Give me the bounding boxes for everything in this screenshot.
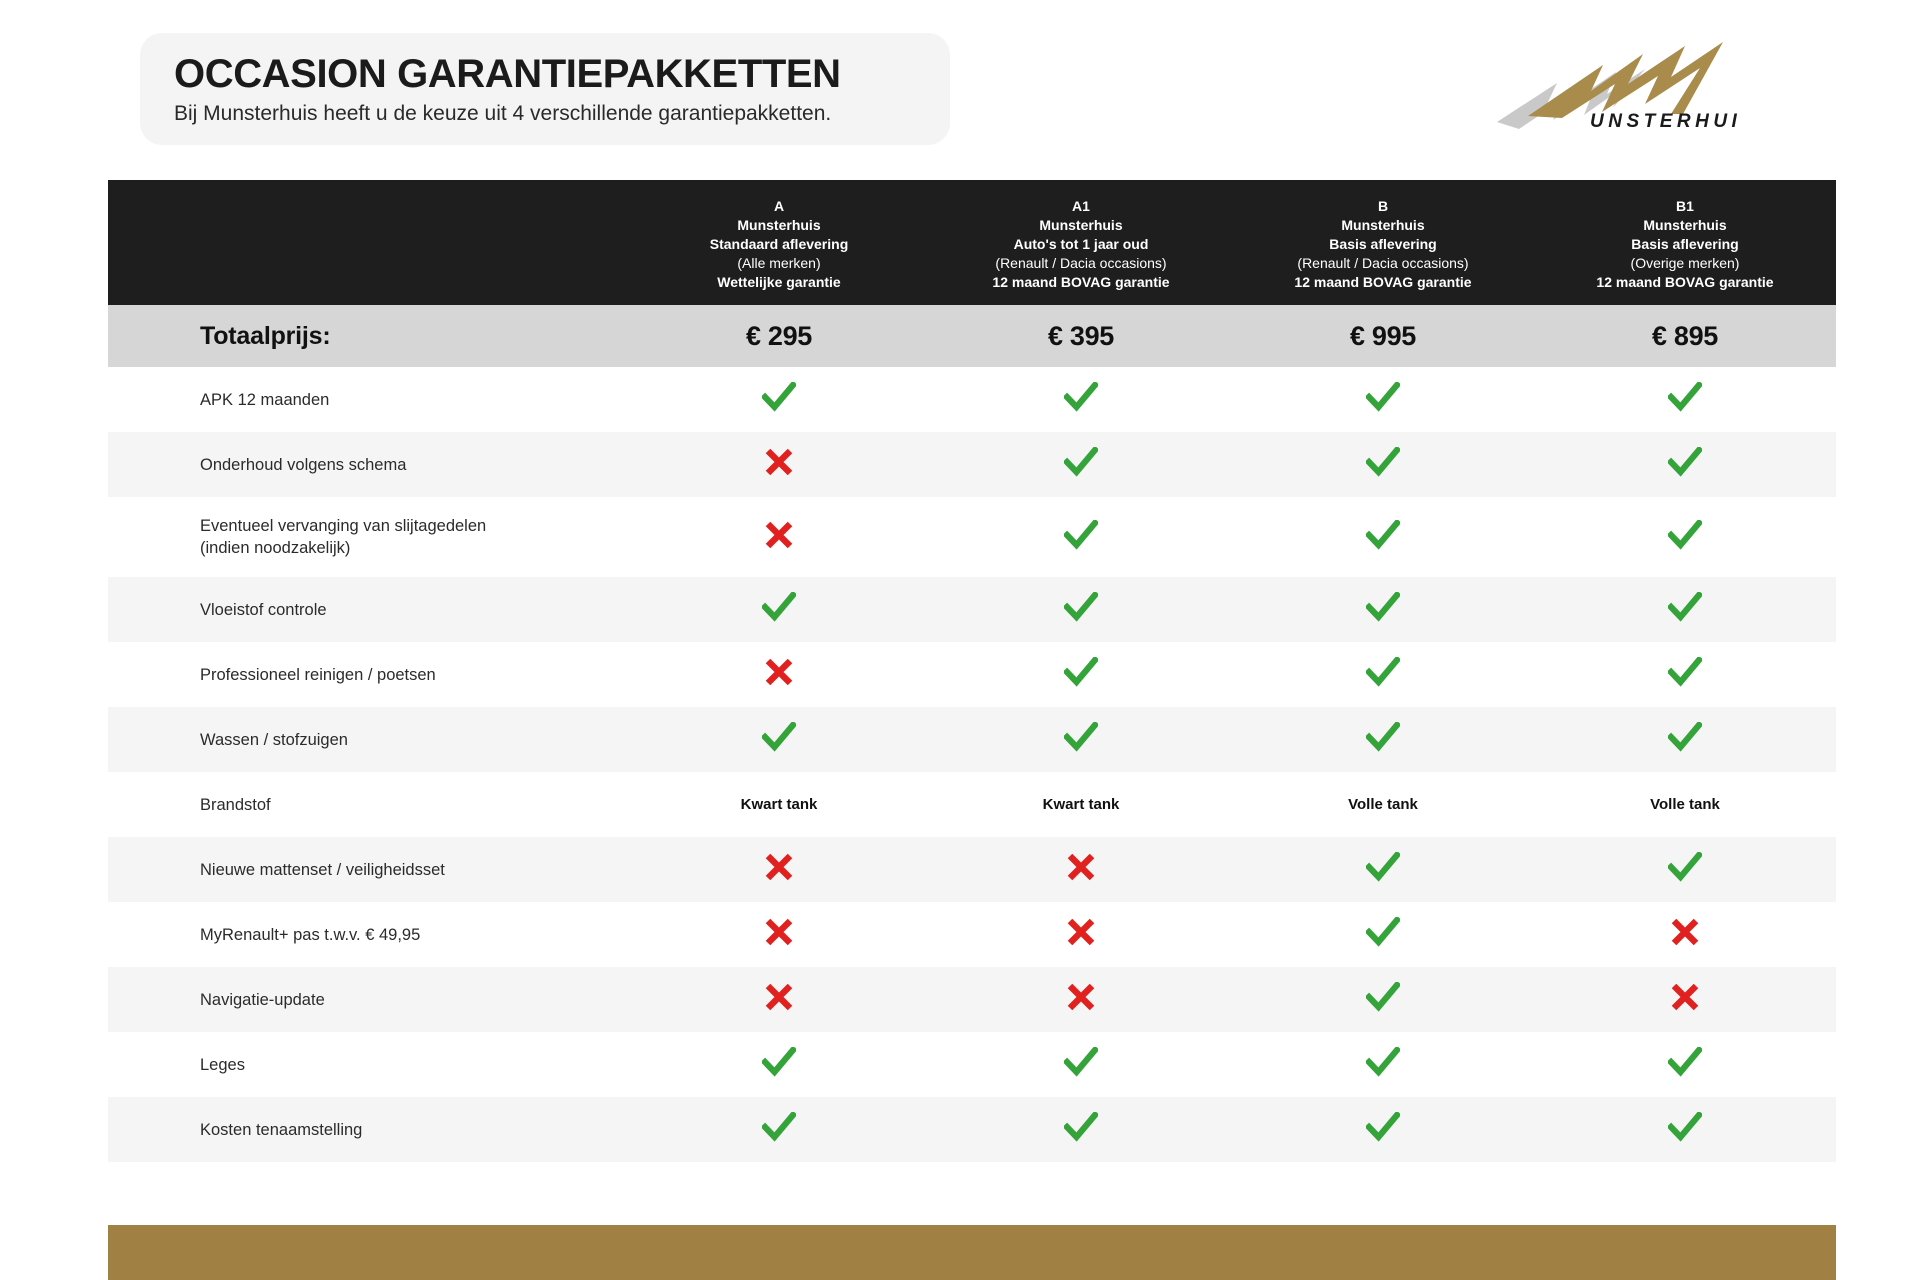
- column-code: B1: [1676, 197, 1694, 216]
- cross-icon: [1534, 967, 1836, 1032]
- check-icon: [930, 432, 1232, 497]
- cross-icon: [930, 837, 1232, 902]
- feature-label: Kosten tenaamstelling: [108, 1097, 628, 1162]
- column-scope: (Renault / Dacia occasions): [995, 254, 1166, 273]
- check-icon: [1232, 967, 1534, 1032]
- column-brand: Munsterhuis: [1643, 216, 1726, 235]
- check-icon: [930, 577, 1232, 642]
- check-icon: [1534, 432, 1836, 497]
- cross-icon: [628, 902, 930, 967]
- logo-mark-icon: UNSTERHUIS: [1495, 34, 1740, 134]
- cross-icon: [1534, 902, 1836, 967]
- check-icon: [628, 577, 930, 642]
- column-scope: (Renault / Dacia occasions): [1297, 254, 1468, 273]
- column-scope: (Overige merken): [1631, 254, 1740, 273]
- feature-text: Volle tank: [1650, 796, 1720, 813]
- feature-rows: APK 12 maandenOnderhoud volgens schemaEv…: [108, 367, 1836, 1162]
- footer-accent-bar: [108, 1225, 1836, 1280]
- feature-label: Nieuwe mattenset / veiligheidsset: [108, 837, 628, 902]
- check-icon: [1232, 367, 1534, 432]
- check-icon: [930, 707, 1232, 772]
- column-header-a: A Munsterhuis Standaard aflevering (Alle…: [628, 180, 930, 305]
- feature-text: Volle tank: [1348, 796, 1418, 813]
- table-row: Nieuwe mattenset / veiligheidsset: [108, 837, 1836, 902]
- feature-label: Leges: [108, 1032, 628, 1097]
- check-icon: [930, 497, 1232, 577]
- table-row: Professioneel reinigen / poetsen: [108, 642, 1836, 707]
- table-row: MyRenault+ pas t.w.v. € 49,95: [108, 902, 1836, 967]
- table-row: Vloeistof controle: [108, 577, 1836, 642]
- check-icon: [1232, 432, 1534, 497]
- check-icon: [1232, 497, 1534, 577]
- cross-icon: [628, 967, 930, 1032]
- check-icon: [1534, 642, 1836, 707]
- check-icon: [628, 367, 930, 432]
- column-scope: (Alle merken): [737, 254, 820, 273]
- logo-wordmark: UNSTERHUIS: [1590, 111, 1740, 132]
- column-variant: Basis aflevering: [1631, 235, 1738, 254]
- feature-text: Kwart tank: [741, 796, 818, 813]
- column-header-b: B Munsterhuis Basis aflevering (Renault …: [1232, 180, 1534, 305]
- column-brand: Munsterhuis: [737, 216, 820, 235]
- feature-label: APK 12 maanden: [108, 367, 628, 432]
- check-icon: [628, 707, 930, 772]
- column-code: A1: [1072, 197, 1090, 216]
- feature-text-value: Kwart tank: [628, 772, 930, 837]
- cross-icon: [628, 837, 930, 902]
- check-icon: [628, 1097, 930, 1162]
- table-row: BrandstofKwart tankKwart tankVolle tankV…: [108, 772, 1836, 837]
- check-icon: [1232, 1097, 1534, 1162]
- check-icon: [1534, 1097, 1836, 1162]
- feature-label: MyRenault+ pas t.w.v. € 49,95: [108, 902, 628, 967]
- column-warranty: Wettelijke garantie: [717, 273, 840, 292]
- title-card: OCCASION GARANTIEPAKKETTEN Bij Munsterhu…: [140, 33, 950, 145]
- column-brand: Munsterhuis: [1039, 216, 1122, 235]
- check-icon: [1534, 707, 1836, 772]
- table-row: Wassen / stofzuigen: [108, 707, 1836, 772]
- comparison-table: A Munsterhuis Standaard aflevering (Alle…: [108, 180, 1836, 1162]
- check-icon: [1534, 367, 1836, 432]
- check-icon: [930, 1097, 1232, 1162]
- cross-icon: [930, 967, 1232, 1032]
- column-header-a1: A1 Munsterhuis Auto's tot 1 jaar oud (Re…: [930, 180, 1232, 305]
- column-warranty: 12 maand BOVAG garantie: [992, 273, 1169, 292]
- munsterhuis-logo: UNSTERHUIS: [1495, 34, 1740, 134]
- check-icon: [1232, 707, 1534, 772]
- check-icon: [628, 1032, 930, 1097]
- table-row: Navigatie-update: [108, 967, 1836, 1032]
- feature-label: Navigatie-update: [108, 967, 628, 1032]
- check-icon: [1534, 497, 1836, 577]
- feature-text-value: Kwart tank: [930, 772, 1232, 837]
- check-icon: [930, 642, 1232, 707]
- check-icon: [930, 1032, 1232, 1097]
- page-subtitle: Bij Munsterhuis heeft u de keuze uit 4 v…: [174, 99, 950, 129]
- price-b1: € 895: [1534, 305, 1836, 367]
- check-icon: [1232, 837, 1534, 902]
- column-brand: Munsterhuis: [1341, 216, 1424, 235]
- feature-label: Professioneel reinigen / poetsen: [108, 642, 628, 707]
- column-code: A: [774, 197, 784, 216]
- feature-text-value: Volle tank: [1232, 772, 1534, 837]
- column-variant: Auto's tot 1 jaar oud: [1014, 235, 1149, 254]
- header-label-cell: [108, 180, 628, 305]
- check-icon: [930, 367, 1232, 432]
- check-icon: [1232, 1032, 1534, 1097]
- check-icon: [1232, 577, 1534, 642]
- price-a1: € 395: [930, 305, 1232, 367]
- feature-label: Onderhoud volgens schema: [108, 432, 628, 497]
- column-code: B: [1378, 197, 1388, 216]
- table-row: Leges: [108, 1032, 1836, 1097]
- column-header-b1: B1 Munsterhuis Basis aflevering (Overige…: [1534, 180, 1836, 305]
- page-header: OCCASION GARANTIEPAKKETTEN Bij Munsterhu…: [0, 0, 1920, 168]
- cross-icon: [628, 432, 930, 497]
- check-icon: [1232, 642, 1534, 707]
- table-row: Onderhoud volgens schema: [108, 432, 1836, 497]
- column-variant: Basis aflevering: [1329, 235, 1436, 254]
- check-icon: [1534, 837, 1836, 902]
- feature-text-value: Volle tank: [1534, 772, 1836, 837]
- feature-label: Brandstof: [108, 772, 628, 837]
- table-row: Kosten tenaamstelling: [108, 1097, 1836, 1162]
- price-b: € 995: [1232, 305, 1534, 367]
- feature-label: Wassen / stofzuigen: [108, 707, 628, 772]
- feature-label: Eventueel vervanging van slijtagedelen(i…: [108, 497, 628, 577]
- feature-label: Vloeistof controle: [108, 577, 628, 642]
- column-warranty: 12 maand BOVAG garantie: [1596, 273, 1773, 292]
- check-icon: [1534, 577, 1836, 642]
- total-price-label: Totaalprijs:: [108, 305, 628, 367]
- table-row: Eventueel vervanging van slijtagedelen(i…: [108, 497, 1836, 577]
- cross-icon: [628, 497, 930, 577]
- total-price-row: Totaalprijs: € 295 € 395 € 995 € 895: [108, 305, 1836, 367]
- page-title: OCCASION GARANTIEPAKKETTEN: [174, 51, 950, 97]
- cross-icon: [628, 642, 930, 707]
- column-variant: Standaard aflevering: [710, 235, 849, 254]
- column-warranty: 12 maand BOVAG garantie: [1294, 273, 1471, 292]
- table-header-row: A Munsterhuis Standaard aflevering (Alle…: [108, 180, 1836, 305]
- cross-icon: [930, 902, 1232, 967]
- feature-text: Kwart tank: [1043, 796, 1120, 813]
- check-icon: [1232, 902, 1534, 967]
- price-a: € 295: [628, 305, 930, 367]
- table-row: APK 12 maanden: [108, 367, 1836, 432]
- check-icon: [1534, 1032, 1836, 1097]
